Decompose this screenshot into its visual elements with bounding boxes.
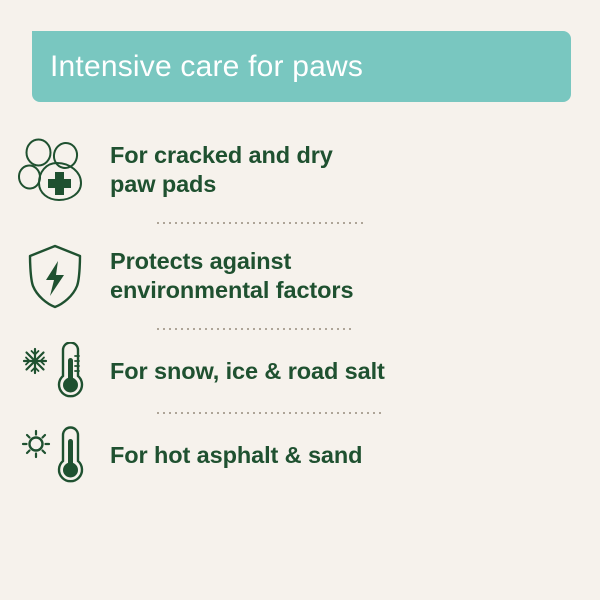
- dotted-divider: [155, 222, 365, 224]
- feature-text: For cracked and dry paw pads: [110, 141, 333, 198]
- feature-line-1: Protects against: [110, 247, 353, 276]
- feature-line-1: For snow, ice & road salt: [110, 357, 385, 386]
- page-title: Intensive care for paws: [32, 50, 363, 83]
- feature-text: For hot asphalt & sand: [110, 441, 362, 470]
- header-banner: Intensive care for paws: [32, 31, 571, 102]
- feature-item-cracked-dry-paw-pads: For cracked and dry paw pads: [0, 118, 600, 222]
- feature-text: Protects against environmental factors: [110, 247, 353, 304]
- feature-list: For cracked and dry paw pads Protects ag…: [0, 118, 600, 496]
- feature-item-snow-ice-road-salt: For snow, ice & road salt: [0, 330, 600, 412]
- shield-with-bolt-icon: [0, 242, 110, 310]
- paw-with-plus-icon: [0, 135, 110, 205]
- feature-line-2: paw pads: [110, 170, 333, 199]
- dotted-divider: [155, 412, 383, 414]
- feature-line-1: For cracked and dry: [110, 141, 333, 170]
- divider-spacer: [0, 412, 155, 414]
- divider-spacer: [0, 222, 155, 224]
- feature-line-2: environmental factors: [110, 276, 353, 305]
- sun-thermometer-icon: [0, 425, 110, 485]
- snowflake-thermometer-icon: [0, 342, 110, 400]
- feature-item-environmental-protection: Protects against environmental factors: [0, 224, 600, 328]
- feature-text: For snow, ice & road salt: [110, 357, 385, 386]
- feature-line-1: For hot asphalt & sand: [110, 441, 362, 470]
- feature-item-hot-asphalt-sand: For hot asphalt & sand: [0, 414, 600, 496]
- divider-spacer: [0, 328, 155, 330]
- dotted-divider: [155, 328, 355, 330]
- feature-list-page: Intensive care for paws For cracked and …: [0, 0, 600, 600]
